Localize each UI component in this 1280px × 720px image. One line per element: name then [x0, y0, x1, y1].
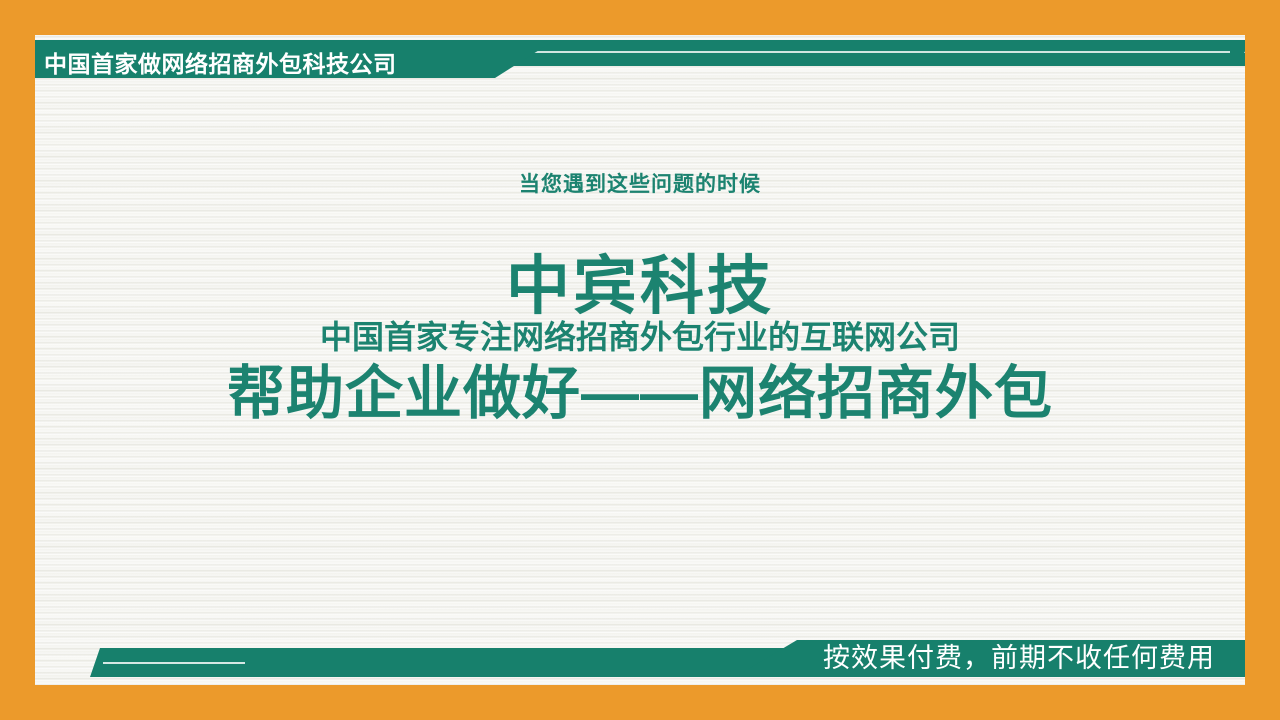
header-title: 中国首家做网络招商外包科技公司	[44, 48, 397, 80]
brand-tagline: 中国首家专注网络招商外包行业的互联网公司	[35, 317, 1245, 357]
presentation-slide: 中国首家做网络招商外包科技公司 当您遇到这些问题的时候 中宾科技 中国首家专注网…	[0, 0, 1280, 720]
header-thick-bar: 中国首家做网络招商外包科技公司	[35, 40, 555, 78]
footer-text: 按效果付费，前期不收任何费用	[823, 642, 1215, 675]
main-headline: 帮助企业做好——网络招商外包	[35, 358, 1245, 430]
eyebrow-text: 当您遇到这些问题的时候	[35, 168, 1245, 198]
footer-hairline	[103, 662, 245, 664]
slide-canvas: 中国首家做网络招商外包科技公司 当您遇到这些问题的时候 中宾科技 中国首家专注网…	[35, 35, 1245, 685]
brand-name: 中宾科技	[35, 250, 1245, 322]
